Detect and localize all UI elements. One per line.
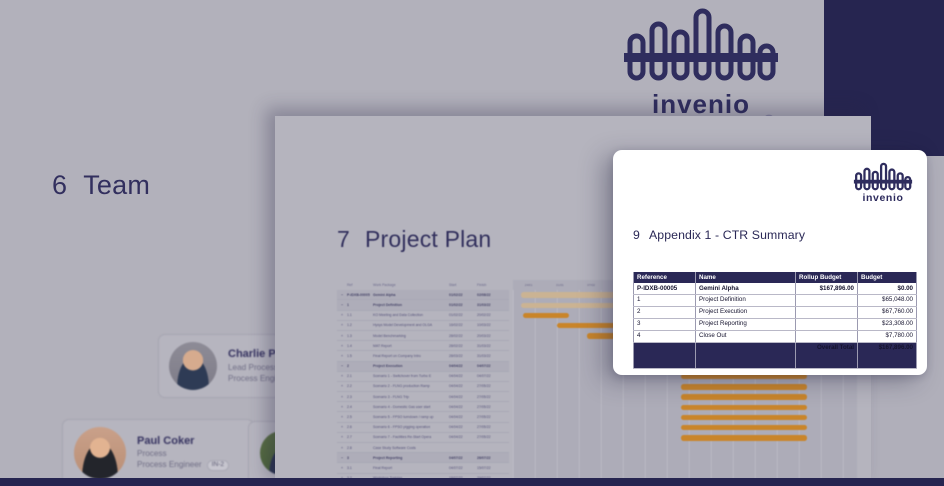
expand-icon[interactable]: − — [337, 364, 347, 368]
gantt-bar[interactable] — [523, 313, 569, 318]
gantt-cell-start: 04/04/22 — [449, 435, 477, 439]
cell-budget: $65,048.00 — [858, 294, 917, 306]
gantt-cell-finish: 31/03/22 — [477, 303, 505, 307]
gantt-axis-tick: 24/01 — [513, 280, 544, 290]
gantt-cell-finish: 27/05/22 — [477, 415, 505, 419]
gantt-task-row[interactable]: +2.8Case Study Software Costs — [337, 443, 509, 453]
expand-icon[interactable]: + — [337, 435, 347, 439]
gantt-cell-finish: 02/08/22 — [477, 293, 505, 297]
cell-rollup-budget — [796, 306, 858, 318]
gantt-cell-start: 28/02/22 — [449, 334, 477, 338]
gantt-cell-ref: 1.2 — [347, 323, 373, 327]
gantt-cell-finish: 20/03/22 — [477, 334, 505, 338]
expand-icon[interactable]: + — [337, 466, 347, 470]
gantt-cell-ref: 1.4 — [347, 344, 373, 348]
gantt-cell-work-package: Scenario 1 - Switchover from Turbo E — [373, 374, 449, 378]
gantt-cell-work-package: KO Meeting and Data Collection — [373, 313, 449, 317]
plan-section-number: 7 — [337, 226, 350, 252]
total-value: $167,896.00 — [858, 342, 917, 368]
gantt-cell-ref: 2.8 — [347, 446, 373, 450]
col-header-name: Name — [696, 272, 796, 283]
gantt-task-row[interactable]: +1.5Final Report on Company Intro28/03/2… — [337, 351, 509, 361]
gantt-cell-start: 04/04/22 — [449, 425, 477, 429]
gantt-task-row[interactable]: −2Project Execution04/04/2204/07/22 — [337, 362, 509, 372]
gantt-cell-work-package: Scenario 7 - Facilities Re-Start Opera — [373, 435, 449, 439]
gantt-cell-work-package: Scenario 3 - FLNG Trip — [373, 395, 449, 399]
invenio-bars-logo-icon — [853, 162, 913, 193]
expand-icon[interactable]: + — [337, 334, 347, 338]
gantt-task-row[interactable]: +1.3Model Benchmarking28/02/2220/03/22 — [337, 331, 509, 341]
gantt-cell-ref: 2 — [347, 364, 373, 368]
expand-icon[interactable]: + — [337, 354, 347, 358]
gantt-cell-finish: 04/07/22 — [477, 364, 505, 368]
gantt-header-row: Ref Work Package Start Finish — [337, 280, 509, 290]
gantt-cell-finish: 26/07/22 — [477, 456, 505, 460]
gantt-task-table: Ref Work Package Start Finish −P-IDXB-00… — [337, 280, 509, 486]
gantt-axis-tick: 31/01 — [544, 280, 575, 290]
gantt-cell-ref: 1.1 — [347, 313, 373, 317]
gantt-cell-ref: 2.7 — [347, 435, 373, 439]
appendix-page-title: 9Appendix 1 - CTR Summary — [633, 228, 805, 242]
cell-budget: $67,760.00 — [858, 306, 917, 318]
cell-rollup-budget: $167,896.00 — [796, 283, 858, 294]
gantt-task-row[interactable]: +2.3Scenario 3 - FLNG Trip04/04/2227/05/… — [337, 392, 509, 402]
bottom-accent-strip — [0, 478, 944, 486]
gantt-cell-start: 04/07/22 — [449, 456, 477, 460]
expand-icon[interactable]: + — [337, 446, 347, 450]
gantt-task-row[interactable]: +3.1Final Report04/07/2215/07/22 — [337, 463, 509, 473]
gantt-cell-work-package: Case Study Software Costs — [373, 446, 449, 450]
total-label: Overall Total — [796, 342, 858, 368]
gantt-col-start: Start — [449, 283, 477, 287]
gantt-cell-ref: 2.5 — [347, 415, 373, 419]
gantt-cell-work-package: Final Report on Company Intro — [373, 354, 449, 358]
gantt-cell-finish: 27/05/22 — [477, 405, 505, 409]
gantt-cell-start: 04/04/22 — [449, 384, 477, 388]
cell-reference: 1 — [634, 294, 696, 306]
cell-name: Gemini Alpha — [696, 283, 796, 294]
expand-icon[interactable]: + — [337, 425, 347, 429]
cell-name: Project Definition — [696, 294, 796, 306]
total-spacer-name — [696, 342, 796, 368]
gantt-task-row[interactable]: +1.1KO Meeting and Data Collection01/02/… — [337, 311, 509, 321]
gantt-cell-finish: 31/03/22 — [477, 344, 505, 348]
gantt-cell-start: 01/02/22 — [449, 303, 477, 307]
gantt-task-row[interactable]: +2.4Scenario 4 - Domestic Gas user start… — [337, 402, 509, 412]
cell-budget: $23,308.00 — [858, 318, 917, 330]
gantt-task-row[interactable]: +2.1Scenario 1 - Switchover from Turbo E… — [337, 372, 509, 382]
team-section-title: Team — [83, 170, 150, 200]
expand-icon[interactable]: − — [337, 456, 347, 460]
gantt-bar[interactable] — [681, 384, 807, 389]
expand-icon[interactable]: − — [337, 303, 347, 307]
gantt-bar[interactable] — [681, 415, 807, 420]
gantt-cell-ref: 3 — [347, 456, 373, 460]
gantt-bar[interactable] — [557, 323, 619, 328]
gantt-task-row[interactable]: +2.2Scenario 2 - FLNG production Ramp04/… — [337, 382, 509, 392]
total-spacer-ref — [634, 342, 696, 368]
table-row: 4Close Out$7,780.00 — [634, 330, 917, 342]
gantt-col-work-package: Work Package — [373, 283, 449, 287]
gantt-cell-work-package: Scenario 2 - FLNG production Ramp — [373, 384, 449, 388]
gantt-col-ref: Ref — [347, 283, 373, 287]
person-name: Paul Coker — [137, 435, 229, 449]
gantt-cell-finish: 20/02/22 — [477, 313, 505, 317]
gantt-cell-ref: 1 — [347, 303, 373, 307]
table-row: 1Project Definition$65,048.00 — [634, 294, 917, 306]
brand-logo-large: invenio — [622, 6, 780, 120]
cell-reference: 2 — [634, 306, 696, 318]
cell-rollup-budget — [796, 318, 858, 330]
gantt-cell-work-package: Hysys Model Development and OLGA — [373, 323, 449, 327]
gantt-cell-work-package: Gemini Alpha — [373, 293, 449, 297]
cell-budget: $7,780.00 — [858, 330, 917, 342]
invenio-bars-logo-icon — [622, 6, 780, 88]
gantt-task-row[interactable]: +1.4MAT Report28/02/2231/03/22 — [337, 341, 509, 351]
person-role-secondary: Process EngineerIN-2 — [137, 459, 229, 471]
team-section-number: 6 — [52, 170, 67, 200]
gantt-cell-finish: 27/05/22 — [477, 425, 505, 429]
gantt-bar[interactable] — [681, 405, 807, 410]
person-badge: IN-2 — [207, 460, 229, 471]
expand-icon[interactable]: + — [337, 374, 347, 378]
gantt-task-row[interactable]: −3Project Reporting04/07/2226/07/22 — [337, 453, 509, 463]
gantt-cell-work-package: Scenario 6 - FPSO pigging operation — [373, 425, 449, 429]
gantt-cell-ref: 2.3 — [347, 395, 373, 399]
gantt-task-row[interactable]: +2.7Scenario 7 - Facilities Re-Start Ope… — [337, 433, 509, 443]
gantt-cell-start: 04/04/22 — [449, 415, 477, 419]
gantt-cell-start: 28/03/22 — [449, 354, 477, 358]
person-card-paul-coker[interactable]: Paul Coker Process Process EngineerIN-2 — [62, 419, 254, 486]
gantt-cell-start: 04/07/22 — [449, 466, 477, 470]
expand-icon[interactable]: + — [337, 323, 347, 327]
gantt-cell-work-package: Project Reporting — [373, 456, 449, 460]
gantt-cell-start: 04/04/22 — [449, 374, 477, 378]
table-row: 3Project Reporting$23,308.00 — [634, 318, 917, 330]
cell-name: Project Execution — [696, 306, 796, 318]
gantt-cell-work-package: Scenario 5 - FPSO turndown / ramp up — [373, 415, 449, 419]
slide-ctr-summary: invenio 9Appendix 1 - CTR Summary Refere… — [613, 150, 927, 375]
gantt-cell-start: 04/04/22 — [449, 395, 477, 399]
gantt-cell-finish: 04/07/22 — [477, 374, 505, 378]
presentation-stage: 6Team Charlie Putt Lead Process Engineer… — [0, 0, 944, 486]
gantt-task-row[interactable]: −1Project Definition01/02/2231/03/22 — [337, 300, 509, 310]
gantt-cell-work-package: Model Benchmarking — [373, 334, 449, 338]
table-row: P-IDXB-00005Gemini Alpha$167,896.00$0.00 — [634, 283, 917, 294]
gantt-cell-work-package: Project Definition — [373, 303, 449, 307]
table-total-row: Overall Total$167,896.00 — [634, 342, 917, 368]
avatar — [74, 427, 126, 479]
expand-icon[interactable]: + — [337, 405, 347, 409]
gantt-cell-start: 04/04/22 — [449, 364, 477, 368]
cell-reference: P-IDXB-00005 — [634, 283, 696, 294]
gantt-cell-ref: 2.4 — [347, 405, 373, 409]
cell-name: Project Reporting — [696, 318, 796, 330]
appendix-section-title: Appendix 1 - CTR Summary — [649, 228, 805, 242]
expand-icon[interactable]: + — [337, 415, 347, 419]
gantt-cell-start: 04/04/22 — [449, 405, 477, 409]
expand-icon[interactable]: − — [337, 293, 347, 297]
gantt-cell-finish: 31/03/22 — [477, 354, 505, 358]
table-row: 2Project Execution$67,760.00 — [634, 306, 917, 318]
gantt-cell-ref: 2.2 — [347, 384, 373, 388]
col-header-budget: Budget — [858, 272, 917, 283]
gantt-cell-finish: 15/07/22 — [477, 466, 505, 470]
expand-icon[interactable]: + — [337, 344, 347, 348]
gantt-cell-work-package: MAT Report — [373, 344, 449, 348]
gantt-cell-start: 16/02/22 — [449, 323, 477, 327]
ctr-summary-table: Reference Name Rollup Budget Budget P-ID… — [633, 272, 917, 369]
gantt-cell-finish: 27/05/22 — [477, 395, 505, 399]
gantt-cell-ref: 2.6 — [347, 425, 373, 429]
cell-reference: 4 — [634, 330, 696, 342]
cell-reference: 3 — [634, 318, 696, 330]
cell-name: Close Out — [696, 330, 796, 342]
gantt-bar[interactable] — [681, 394, 807, 399]
person-role-primary: Process — [137, 448, 229, 459]
avatar — [169, 342, 217, 390]
gantt-bar[interactable] — [681, 435, 807, 440]
cell-rollup-budget — [796, 330, 858, 342]
appendix-section-number: 9 — [633, 228, 640, 242]
gantt-cell-ref: 3.1 — [347, 466, 373, 470]
gantt-cell-ref: P-IDXB-00005 — [347, 293, 373, 297]
brand-logo-small: invenio — [853, 162, 913, 204]
gantt-task-row[interactable]: +2.5Scenario 5 - FPSO turndown / ramp up… — [337, 412, 509, 422]
col-header-rollup-budget: Rollup Budget — [796, 272, 858, 283]
plan-page-title: 7Project Plan — [337, 226, 491, 253]
gantt-cell-start: 01/02/22 — [449, 313, 477, 317]
brand-wordmark: invenio — [853, 192, 913, 204]
gantt-cell-finish: 27/05/22 — [477, 384, 505, 388]
gantt-cell-finish: 10/03/22 — [477, 323, 505, 327]
gantt-task-row[interactable]: −P-IDXB-00005Gemini Alpha01/02/2202/08/2… — [337, 290, 509, 300]
gantt-bar[interactable] — [681, 425, 807, 430]
gantt-cell-work-package: Scenario 4 - Domestic Gas user start — [373, 405, 449, 409]
expand-icon[interactable]: + — [337, 395, 347, 399]
gantt-cell-start: 01/02/22 — [449, 293, 477, 297]
gantt-cell-work-package: Project Execution — [373, 364, 449, 368]
gantt-cell-start: 28/02/22 — [449, 344, 477, 348]
gantt-axis-tick: 07/02 — [576, 280, 607, 290]
gantt-cell-ref: 1.5 — [347, 354, 373, 358]
cell-budget: $0.00 — [858, 283, 917, 294]
gantt-cell-finish: 27/05/22 — [477, 435, 505, 439]
gantt-col-finish: Finish — [477, 283, 505, 287]
plan-section-title: Project Plan — [365, 226, 491, 252]
expand-icon[interactable]: + — [337, 313, 347, 317]
gantt-cell-ref: 1.3 — [347, 334, 373, 338]
team-page-title: 6Team — [52, 170, 150, 201]
cell-rollup-budget — [796, 294, 858, 306]
gantt-task-row[interactable]: +1.2Hysys Model Development and OLGA16/0… — [337, 321, 509, 331]
gantt-cell-work-package: Final Report — [373, 466, 449, 470]
table-header-row: Reference Name Rollup Budget Budget — [634, 272, 917, 283]
expand-icon[interactable]: + — [337, 384, 347, 388]
gantt-task-row[interactable]: +2.6Scenario 6 - FPSO pigging operation0… — [337, 423, 509, 433]
col-header-reference: Reference — [634, 272, 696, 283]
gantt-cell-ref: 2.1 — [347, 374, 373, 378]
